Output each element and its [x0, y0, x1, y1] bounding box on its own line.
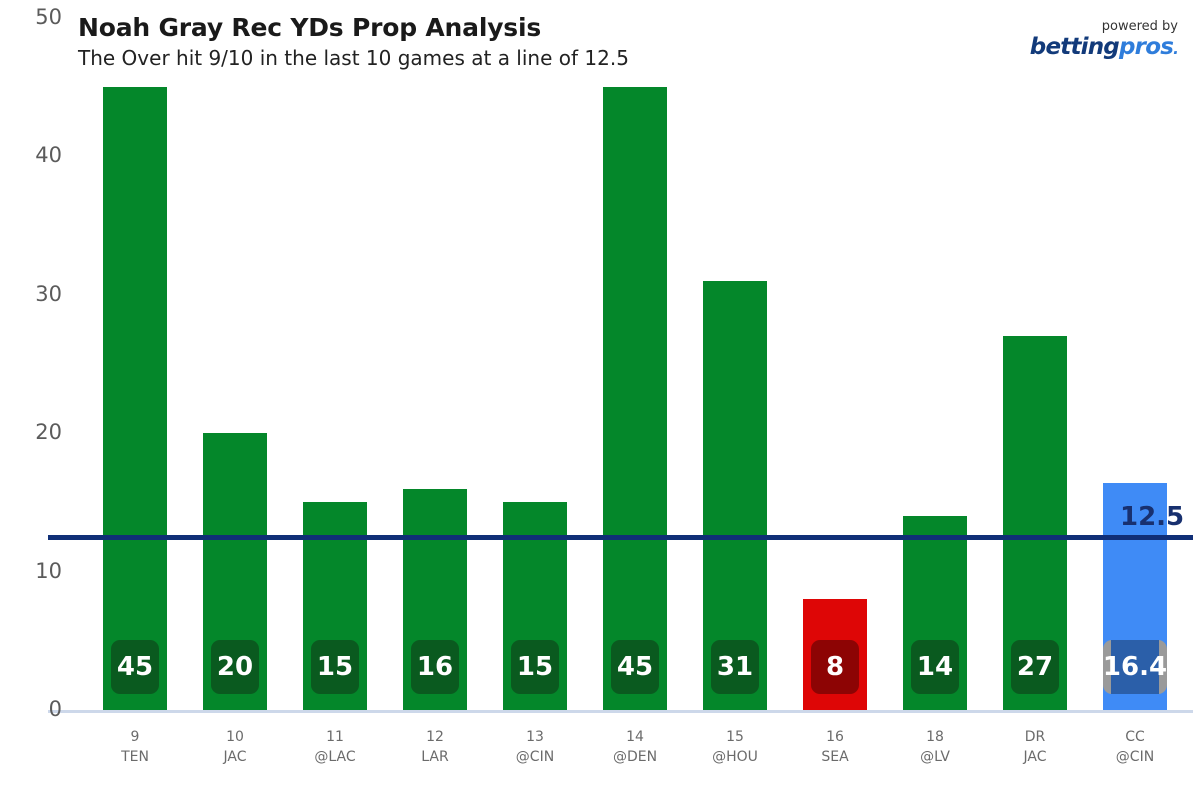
- x-axis-opponent: TEN: [85, 747, 185, 767]
- y-axis-tick-label: 50: [12, 7, 62, 28]
- bar-value-badge: 8: [811, 640, 859, 694]
- bar-value-badge: 15: [311, 640, 359, 694]
- y-axis-tick-label: 40: [12, 145, 62, 166]
- x-axis-week: DR: [985, 727, 1085, 747]
- bar-11[interactable]: 15: [303, 502, 367, 710]
- x-axis-label-9: 9TEN: [85, 727, 185, 768]
- prop-analysis-chart: Noah Gray Rec YDs Prop Analysis The Over…: [0, 0, 1200, 800]
- bar-value-badge: 20: [211, 640, 259, 694]
- bar-value-label: 20: [217, 654, 253, 680]
- x-axis-opponent: @CIN: [485, 747, 585, 767]
- bar-value-label: 15: [517, 654, 553, 680]
- bar-14[interactable]: 45: [603, 87, 667, 710]
- x-axis-week: 16: [785, 727, 885, 747]
- bar-9[interactable]: 45: [103, 87, 167, 710]
- x-axis-week: 11: [285, 727, 385, 747]
- x-axis-opponent: JAC: [185, 747, 285, 767]
- bar-18[interactable]: 14: [903, 516, 967, 710]
- x-axis-opponent: @DEN: [585, 747, 685, 767]
- bar-dr[interactable]: 27: [1003, 336, 1067, 710]
- bar-value-badge: 14: [911, 640, 959, 694]
- x-axis-opponent: @LAC: [285, 747, 385, 767]
- x-axis-label-13: 13@CIN: [485, 727, 585, 768]
- bar-value-badge: 16.4: [1103, 640, 1167, 694]
- x-axis-opponent: @CIN: [1085, 747, 1185, 767]
- bar-value-badge: 27: [1011, 640, 1059, 694]
- x-axis-opponent: @LV: [885, 747, 985, 767]
- x-axis-label-14: 14@DEN: [585, 727, 685, 768]
- bar-value-label: 45: [117, 654, 153, 680]
- bar-value-label: 45: [617, 654, 653, 680]
- bar-fill: [103, 87, 167, 710]
- x-axis-label-cc: CC@CIN: [1085, 727, 1185, 768]
- x-axis-label-15: 15@HOU: [685, 727, 785, 768]
- x-axis-label-16: 16SEA: [785, 727, 885, 768]
- y-axis-tick-label: 10: [12, 561, 62, 582]
- bar-16[interactable]: 8: [803, 599, 867, 710]
- x-axis-label-10: 10JAC: [185, 727, 285, 768]
- bar-value-badge: 16: [411, 640, 459, 694]
- x-axis-week: 12: [385, 727, 485, 747]
- bar-12[interactable]: 16: [403, 489, 467, 710]
- y-axis-tick-label: 30: [12, 284, 62, 305]
- bar-15[interactable]: 31: [703, 281, 767, 710]
- x-axis-week: CC: [1085, 727, 1185, 747]
- y-axis-tick-label: 20: [12, 422, 62, 443]
- x-axis-week: 13: [485, 727, 585, 747]
- bar-value-label: 8: [826, 654, 844, 680]
- bar-value-badge: 45: [611, 640, 659, 694]
- x-axis-week: 15: [685, 727, 785, 747]
- x-axis-opponent: @HOU: [685, 747, 785, 767]
- bar-value-label: 16.4: [1103, 654, 1167, 680]
- x-axis-opponent: LAR: [385, 747, 485, 767]
- y-axis-tick-label: 0: [12, 699, 62, 720]
- bar-value-label: 31: [717, 654, 753, 680]
- bar-fill: [603, 87, 667, 710]
- x-axis-week: 18: [885, 727, 985, 747]
- bar-10[interactable]: 20: [203, 433, 267, 710]
- x-axis-opponent: JAC: [985, 747, 1085, 767]
- x-axis-label-18: 18@LV: [885, 727, 985, 768]
- x-axis-baseline: [48, 710, 1193, 713]
- bar-value-label: 27: [1017, 654, 1053, 680]
- bar-value-badge: 45: [111, 640, 159, 694]
- prop-line: [48, 535, 1193, 540]
- bar-value-label: 16: [417, 654, 453, 680]
- bar-13[interactable]: 15: [503, 502, 567, 710]
- bar-value-badge: 31: [711, 640, 759, 694]
- x-axis-label-dr: DRJAC: [985, 727, 1085, 768]
- prop-line-label: 12.5: [1120, 504, 1184, 530]
- plot-area: 01020304050459TEN2010JAC1511@LAC1612LAR1…: [0, 0, 1200, 800]
- x-axis-label-11: 11@LAC: [285, 727, 385, 768]
- x-axis-week: 14: [585, 727, 685, 747]
- bar-value-label: 15: [317, 654, 353, 680]
- x-axis-week: 10: [185, 727, 285, 747]
- bar-value-label: 14: [917, 654, 953, 680]
- x-axis-label-12: 12LAR: [385, 727, 485, 768]
- x-axis-week: 9: [85, 727, 185, 747]
- x-axis-opponent: SEA: [785, 747, 885, 767]
- bar-value-badge: 15: [511, 640, 559, 694]
